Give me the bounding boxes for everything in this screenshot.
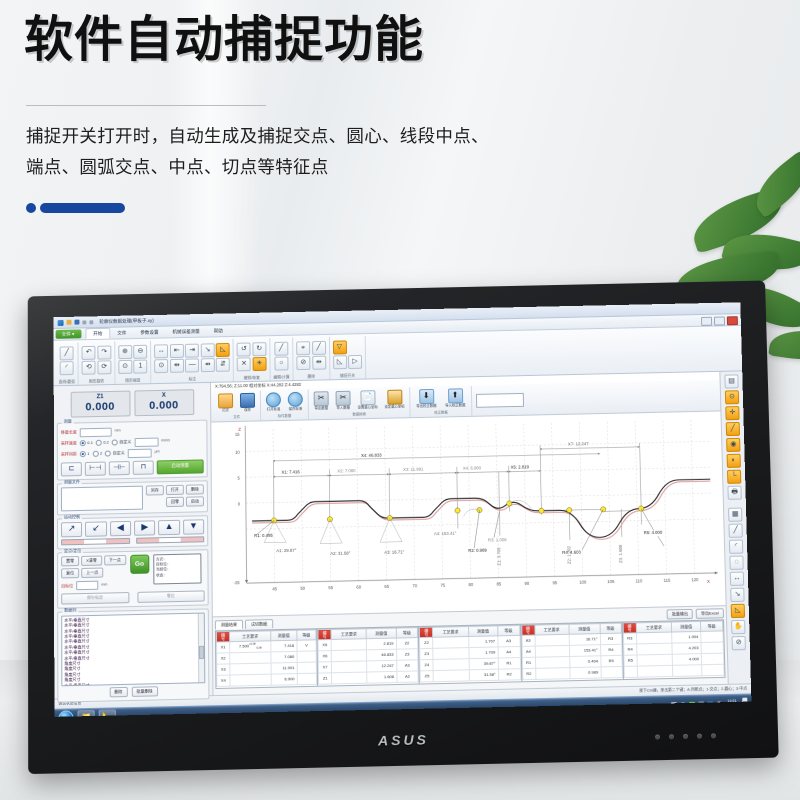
chart-ribbon-group-label: 文件	[233, 416, 240, 420]
ribbon-group-label: 编辑/计算	[273, 375, 289, 379]
target-pos-input[interactable]	[76, 581, 98, 591]
dim-right-icon[interactable]: ⇥	[185, 344, 199, 358]
monitor-brand-logo: ASUS	[378, 731, 429, 748]
snap-next-icon[interactable]: ▷	[348, 355, 362, 369]
folder-open-icon	[218, 394, 233, 409]
edit-circle-icon[interactable]: ○	[274, 356, 288, 370]
snap-perpendicular-icon[interactable]: └	[727, 470, 741, 484]
svg-text:95: 95	[552, 580, 557, 585]
rotate-ccw-icon[interactable]: ↶	[82, 346, 96, 360]
ribbon-group-label: 图形旋转	[89, 379, 104, 383]
svg-text:80: 80	[468, 582, 473, 587]
results-table: 编号 工艺要求 测量值 等级 A316.71°R3 A4153.41°R4 R1…	[521, 623, 623, 681]
zoom-out-icon[interactable]: ⊖	[133, 345, 147, 359]
data-list-panel: 数据列 水平/垂直尺寸 水平/垂直尺寸 水平/垂直尺寸 水平/垂直尺寸 水平/垂…	[57, 608, 209, 703]
svg-text:90: 90	[524, 581, 529, 586]
minimize-button[interactable]	[701, 317, 712, 326]
chart-ribbon-group-correction: ⬇ 导出校正数据 ⬆ 导入校正数据 校正数据	[410, 386, 472, 417]
target-pos-label: 目标位	[61, 584, 73, 589]
chart-ribbon-group-label: 标件数据	[278, 415, 292, 419]
accent-bar	[40, 203, 125, 213]
page-title: 软件自动捕捉功能	[24, 14, 424, 67]
annotation-z3: Z3: 1.608	[618, 544, 623, 563]
promo-banner: 软件自动捕捉功能 捕捉开关打开时，自动生成及捕捉交点、圆心、线段中点、 端点、圆…	[0, 0, 800, 800]
redo-icon[interactable]: ↻	[252, 342, 266, 356]
table-row: Z11.608A2	[319, 671, 419, 684]
annotation-x7: X7: 12.247	[568, 441, 589, 446]
col-id: 编号	[623, 623, 636, 633]
ribbon-group-label: 捕捉开关	[340, 374, 355, 378]
results-grid[interactable]: 编号 工艺要求 测量值 等级 X17.500+0.08-0.087.416V X…	[215, 620, 726, 690]
apply-centroid-button[interactable]: 设定重心坐标	[382, 390, 406, 410]
col-grade: 等级	[396, 628, 418, 639]
tab-trial-cut-data[interactable]: 试切数据	[245, 619, 273, 629]
tab-measure-results[interactable]: 测量结果	[215, 620, 243, 630]
snap-angle-icon[interactable]: ◺	[333, 355, 347, 369]
delete-row-button[interactable]: 删除	[109, 687, 127, 698]
goto-status-display: 方式： 目标位： 当前位： 状态：	[153, 553, 201, 584]
dro-axis-value: 0.000	[71, 400, 129, 413]
status-right-hint: 按下Ctrl键，单击第二个键；A-判断点；1-交点；2-圆心；3-中点	[639, 687, 747, 694]
ribbon-group-label: 标注	[189, 377, 197, 381]
disk-quick-icon[interactable]	[74, 320, 79, 325]
print-icon[interactable]: 🖶	[727, 486, 741, 500]
chart-ribbon-group-label: 校正数据	[434, 411, 448, 415]
dim-length-icon[interactable]: —	[185, 358, 199, 372]
col-value: 测量值	[271, 631, 297, 642]
ribbon-group-line-arc: ╱ ◜ 直线/圆弧	[56, 342, 79, 385]
nav-down-left-icon[interactable]: ↙	[85, 521, 106, 536]
left-control-panel: Z1 0.000 X 0.000 测量 移量长度	[54, 383, 214, 699]
ribbon-group-label: 直线/圆弧	[59, 380, 75, 384]
list-scrollbar-thumb[interactable]	[199, 646, 204, 659]
goto-panel: 定点/定位 置零 X清零 下一点 复位	[57, 549, 209, 609]
svg-text:105: 105	[607, 579, 615, 584]
dim-left-icon[interactable]: ⇤	[170, 344, 184, 358]
travel-length-unit: mm	[115, 430, 121, 434]
snap-center-icon[interactable]: ✛	[725, 406, 739, 420]
measure-panel-title: 测量	[62, 419, 74, 424]
draw-arc-icon[interactable]: ◜	[729, 540, 743, 554]
file-delete-button[interactable]: 删除	[186, 484, 204, 495]
globe-open-icon	[266, 393, 281, 408]
col-grade: 等级	[297, 630, 317, 641]
file-panel: 测量文件 另存 打开 删除	[57, 480, 208, 515]
snap-endpoint-icon[interactable]: ◉	[726, 438, 740, 452]
chart-ribbon-group-transform: ✂ 导出数据 ✂ 导入数据 📄 设置重心坐标	[309, 387, 411, 419]
speed-slider-z[interactable]	[136, 536, 205, 544]
annotation-a4: A4: 153.41°	[434, 530, 457, 536]
svg-text:-25: -25	[234, 580, 241, 585]
sample-speed-label: 采样速度	[61, 441, 77, 446]
app-body: Z1 0.000 X 0.000 测量 移量长度	[54, 371, 751, 698]
svg-text:X: X	[707, 579, 710, 584]
annotation-a3: A3: 16.71°	[384, 549, 404, 554]
svg-text:65: 65	[384, 584, 389, 589]
start-measure-button[interactable]: 启动测量	[157, 459, 204, 474]
ribbon-group-edit: ╱ ○ 编辑/计算	[270, 338, 294, 381]
sample-pitch-input[interactable]	[128, 448, 152, 457]
export-correction-button[interactable]: ⬇ 导出校正数据	[413, 389, 439, 409]
menu-tab-file[interactable]: 文件	[110, 328, 133, 337]
grid-block: 编号 工艺要求 测量值 等级 X17.500+0.08-0.087.416V X…	[216, 630, 318, 689]
download-arrow-icon: ⬇	[419, 389, 434, 404]
grid-block: 编号 工艺要求 测量值 等级 A316.71°R3 A4153.41°R4 R1…	[521, 623, 624, 682]
nav-up-right-icon[interactable]: ↗	[61, 522, 82, 537]
file-menu-button[interactable]: 文件 ▾	[56, 329, 82, 338]
dim-horizontal-icon[interactable]: ↔	[154, 344, 168, 358]
import-data-button[interactable]: ✂ 导入数据	[334, 391, 353, 411]
next-point-button[interactable]: 下一点	[104, 555, 126, 566]
sample-pitch-option-custom[interactable]: 自定义	[105, 450, 124, 456]
brush-icon	[387, 390, 402, 405]
svg-text:100: 100	[579, 579, 587, 584]
menu-tab-help[interactable]: 帮助	[207, 326, 230, 335]
nav-right-icon[interactable]: ▶	[134, 520, 155, 535]
file-open-button[interactable]: 打开	[166, 484, 184, 495]
probe-mode-right-icon[interactable]: ⊓	[133, 460, 154, 474]
undo-icon[interactable]: ↺	[237, 342, 251, 356]
table-row: R20.989	[522, 667, 622, 680]
file-start-button[interactable]: 启动	[186, 496, 204, 507]
svg-text:115: 115	[663, 577, 671, 582]
set-centroid-button[interactable]: 📄 设置重心坐标	[355, 390, 379, 410]
ribbon-group-label: 删除	[307, 375, 315, 379]
snap-tangent-icon[interactable]: ◐	[727, 454, 741, 468]
delete-point-icon[interactable]: ⌖	[296, 341, 310, 355]
file-saveas-button[interactable]: 另存	[146, 485, 164, 496]
chart-pane: X:794.56; Z:11.00 相对坐标 X:44.282 Z:4.4282…	[211, 372, 728, 695]
divider	[26, 105, 266, 106]
ribbon-group-dimension: ↔ ⇤ ⇥ ↘ ◺ ⊙ ⇹ — ⇴ ⇵	[151, 339, 234, 383]
svg-text:45: 45	[272, 586, 277, 591]
dim-radius-icon[interactable]: ⊙	[154, 359, 168, 373]
zoom-actual-icon[interactable]: 1	[133, 359, 147, 373]
windows-start-orb-icon[interactable]	[58, 710, 73, 717]
chart-save-button[interactable]: 保存	[238, 393, 257, 413]
col-grade: 等级	[497, 626, 519, 637]
annotation-x4: X4: 6.900	[463, 465, 482, 470]
probe-mode-left-icon[interactable]: ⊏	[61, 462, 82, 476]
ribbon-group-delete: ⌖╱ ⊘⇹ 删除	[293, 337, 330, 380]
snap-toggle-icon[interactable]: ▽	[332, 340, 346, 354]
results-table: 编号 工艺要求 测量值 等级 R31.004 R44.203 R54.000	[622, 621, 724, 679]
snap-intersection-icon[interactable]: ⊙	[725, 390, 739, 404]
col-id: 编号	[216, 632, 229, 642]
table-row: X46.900	[217, 674, 317, 687]
svg-text:5: 5	[237, 475, 240, 480]
export-excel-button[interactable]: 导出Excel	[696, 608, 724, 619]
sample-pitch-unit: μm	[155, 451, 160, 455]
svg-text:10: 10	[235, 449, 240, 454]
nav-down-icon[interactable]: ▼	[183, 519, 204, 534]
svg-text:60: 60	[356, 584, 361, 589]
application-window: 轮廓仪数据处理(甲板子.xy) 文件 ▾ 开始 文件 参数设置 机械误差测量 帮…	[54, 302, 752, 717]
svg-text:15: 15	[235, 431, 240, 436]
svg-text:70: 70	[412, 583, 417, 588]
results-table: 编号 工艺要求 测量值 等级 Z21.707A3 Z31.709A4 Z439.…	[419, 625, 521, 683]
dro-axis-value: 0.000	[135, 399, 193, 412]
menu-tab-start[interactable]: 开始	[85, 328, 110, 339]
sample-speed-unit: mm/s	[161, 439, 170, 443]
line-tool-icon[interactable]: ╱	[60, 346, 74, 360]
file-home-button[interactable]: 回零	[166, 497, 184, 508]
accent-pill	[26, 203, 125, 213]
col-grade: 等级	[600, 623, 622, 634]
col-value: 测量值	[569, 624, 600, 635]
app-icon	[58, 319, 64, 325]
annotation-x2: X2: 7.080	[337, 468, 356, 473]
annotation-a2: A2: 31.58°	[330, 550, 350, 555]
grid-block: 编号 工艺要求 测量值 等级 R31.004 R44.203 R54.000	[622, 621, 724, 680]
svg-text:110: 110	[635, 578, 642, 583]
draw-line-icon[interactable]: ╱	[728, 524, 742, 538]
annotation-z2: Z2: 1.202	[566, 545, 571, 564]
batch-delete-button[interactable]: 批量删除	[131, 686, 157, 697]
monitor: ASUS 轮廓仪数据处理(甲板子.xy) 文件 ▾ 开始	[28, 286, 772, 764]
results-table: 编号 工艺要求 测量值 等级 X52.819Z2 X646.833Z3 X712…	[318, 627, 419, 685]
import-scissors-icon: ✂	[336, 391, 351, 406]
annotation-x5: X5: 2.819	[511, 464, 530, 469]
svg-text:0: 0	[238, 501, 241, 506]
draw-angle-icon[interactable]: ◺	[731, 604, 745, 618]
annotation-z1: Z1: 3.709	[496, 546, 501, 565]
ribbon-group-rotate: ↶↷ ⟲⟳ 图形旋转	[79, 341, 115, 384]
maximize-button[interactable]	[714, 316, 725, 325]
flip-h-icon[interactable]: ⟲	[82, 361, 96, 375]
svg-text:50: 50	[300, 585, 305, 590]
results-table: 编号 工艺要求 测量值 等级 X17.500+0.08-0.087.416V X…	[216, 630, 317, 688]
svg-text:55: 55	[328, 585, 333, 590]
menu-tab-error-measure[interactable]: 机械误差测量	[165, 327, 206, 337]
snap-midpoint-icon[interactable]: ╱	[726, 422, 740, 436]
upload-arrow-icon: ⬆	[448, 389, 463, 404]
dim-angle-icon[interactable]: ◺	[216, 343, 230, 357]
document-edit-icon: 📄	[360, 391, 375, 406]
motion-panel: 运动控制 ↗ ↙ ◀ ▶ ▲ ▼	[57, 515, 208, 549]
page-subtitle: 捕捉开关打开时，自动生成及捕捉交点、圆心、线段中点、 端点、圆弧交点、中点、切点…	[26, 121, 586, 182]
dro-axis-z1: Z1 0.000	[70, 391, 130, 418]
export-scissors-icon: ✂	[314, 392, 329, 407]
dim-offset-icon[interactable]: ⇴	[201, 358, 215, 372]
speed-slider-x[interactable]	[61, 538, 130, 546]
svg-text:75: 75	[440, 582, 445, 587]
menu-tab-settings[interactable]: 参数设置	[133, 328, 165, 338]
undo-quick-icon[interactable]	[82, 320, 86, 324]
draw-polyline-icon[interactable]: ↘	[730, 588, 744, 602]
cancel-icon[interactable]: ⊘	[732, 636, 746, 650]
col-value: 测量值	[468, 626, 497, 637]
highlight-icon[interactable]: ☀	[252, 357, 266, 371]
dim-vertical-icon[interactable]: ⇵	[216, 358, 230, 372]
sample-speed-option-1[interactable]: 0.1	[80, 440, 93, 446]
ribbon-group-label: 撤销/恢复	[244, 376, 260, 380]
results-table-zone: 测量结果 试切数据 批量输出 导出Excel	[213, 605, 728, 695]
profile-chart[interactable]: ZX 15105 0-25 455055 606570 758085 90951…	[211, 411, 725, 616]
zoom-fit-icon[interactable]: ⊙	[118, 360, 132, 374]
zero-button[interactable]: 置零	[61, 556, 79, 567]
data-list-title: 数据列	[62, 608, 78, 613]
table-actions: 批量输出 导出Excel	[667, 608, 724, 620]
svg-text:85: 85	[496, 581, 501, 586]
prev-point-button[interactable]: 上一点	[81, 568, 103, 579]
reset-button[interactable]: 复位	[61, 568, 79, 579]
nav-left-icon[interactable]: ◀	[110, 521, 131, 536]
travel-length-input[interactable]	[80, 427, 112, 437]
ribbon-group-undo: ↺↻ ✕☀ 撤销/恢复	[234, 338, 271, 381]
annotation-r2: R2: 0.989	[468, 547, 487, 552]
sample-pitch-option-2[interactable]: 2	[93, 451, 103, 457]
chart-ribbon-group-label: 数据转换	[352, 413, 366, 417]
motion-panel-title: 运动控制	[62, 515, 82, 520]
grid-block: 编号 工艺要求 测量值 等级 Z21.707A3 Z31.709A4 Z439.…	[419, 625, 522, 684]
clear-icon[interactable]: ✕	[237, 357, 251, 371]
ribbon-group-zoom: ⊕⊖ ⊙1 图形缩放	[115, 341, 152, 384]
data-list-box[interactable]: 水平/垂直尺寸 水平/垂直尺寸 水平/垂直尺寸 水平/垂直尺寸 水平/垂直尺寸 …	[61, 612, 205, 686]
draw-dimension-icon[interactable]: ↔	[730, 572, 744, 586]
globe-save-icon	[288, 392, 303, 407]
delete-line-icon[interactable]: ╱	[312, 341, 326, 355]
save-quick-icon[interactable]	[67, 320, 72, 325]
sample-pitch-label: 采样间距	[61, 452, 77, 457]
sample-speed-option-custom[interactable]: 自定义	[112, 439, 131, 445]
file-list-box[interactable]	[61, 485, 143, 511]
arc-tool-icon[interactable]: ◜	[60, 361, 74, 375]
ribbon-group-snap: ▽ ◺▷ 捕捉开关	[329, 336, 366, 379]
draw-circle-icon[interactable]: ◌	[729, 556, 743, 570]
table-row: Z531.58°R2	[420, 669, 520, 682]
subtitle-line-2: 端点、圆弧交点、中点、切点等特征点	[26, 152, 586, 183]
goto-status-state: 状态：	[156, 572, 198, 578]
zoom-in-icon[interactable]: ⊕	[118, 345, 132, 359]
probe-mode-out-icon[interactable]: ⊢⊣	[85, 461, 106, 475]
nav-up-icon[interactable]: ▲	[158, 519, 179, 534]
annotation-x4b: X4: 46.833	[361, 452, 382, 457]
window-title: 轮廓仪数据处理(甲板子.xy)	[99, 318, 154, 324]
sample-speed-input[interactable]	[134, 437, 158, 446]
goto-panel-title: 定点/定位	[62, 549, 83, 554]
col-value: 测量值	[672, 622, 701, 633]
chart-open-button[interactable]: 打开	[216, 394, 235, 414]
flip-v-icon[interactable]: ⟳	[97, 360, 111, 374]
floppy-save-icon	[240, 393, 255, 408]
pan-icon[interactable]: ✋	[731, 620, 745, 634]
chart-note-field[interactable]	[476, 393, 524, 408]
table-row	[624, 665, 724, 678]
col-value: 测量值	[367, 628, 396, 639]
chart-ribbon-group-file: 打开 保存 文件	[213, 390, 261, 421]
taskbar-explorer-icon[interactable]: 📁	[78, 710, 95, 717]
svg-text:120: 120	[691, 577, 699, 582]
digital-readout: Z1 0.000 X 0.000	[57, 386, 208, 420]
save-standard-button[interactable]: 保存标准	[286, 392, 305, 412]
delete-dim-icon[interactable]: ⇹	[312, 356, 326, 370]
annotation-r1: R1: 0.495	[254, 532, 273, 537]
dim-span-icon[interactable]: ⇹	[170, 359, 184, 373]
annotation-r5: R5: 4.000	[644, 530, 663, 535]
rotate-cw-icon[interactable]: ↷	[97, 345, 111, 359]
sample-speed-option-2[interactable]: 0.2	[96, 440, 109, 446]
probe-calibrate-button[interactable]: 探针标定	[61, 593, 129, 605]
col-id: 编号	[420, 628, 433, 638]
dim-diagonal-icon[interactable]: ↘	[201, 343, 215, 357]
annotation-r3: R3: 1.006	[488, 537, 507, 542]
chart-ribbon-group-standard: 打开标准 保存标准 标件数据	[261, 389, 309, 420]
x-clear-button[interactable]: X清零	[81, 555, 102, 566]
snap-panel-icon[interactable]: ▤	[724, 374, 738, 388]
measure-panel: 测量 移量长度 mm 采样速度 0.1 0.2 自定义	[57, 419, 208, 480]
edit-line-icon[interactable]: ╱	[274, 342, 288, 356]
annotation-x3: X3: 11.991	[403, 466, 424, 471]
profile-chart-svg: ZX 15105 0-25 455055 606570 758085 90951…	[211, 411, 725, 608]
annotation-r4: R4: 4.603	[562, 549, 581, 554]
window-controls[interactable]	[701, 316, 738, 326]
dro-axis-x: X 0.000	[134, 389, 194, 416]
tools-panel-icon[interactable]: ▦	[728, 508, 742, 522]
target-pos-unit: mm	[101, 583, 107, 587]
close-button[interactable]	[727, 316, 738, 325]
file-panel-title: 测量文件	[62, 480, 82, 485]
travel-length-label: 移量长度	[61, 430, 77, 435]
col-grade: 等级	[700, 621, 722, 632]
annotation-a1: A1: 29.87°	[276, 548, 296, 553]
go-button[interactable]: Go	[130, 554, 149, 573]
home-position-button[interactable]: 零位	[137, 591, 205, 603]
annotation-x1: X1: 7.416	[281, 469, 300, 474]
grid-block: 编号 工艺要求 测量值 等级 X52.819Z2 X646.833Z3 X712…	[318, 627, 421, 686]
redo-quick-icon[interactable]	[89, 320, 93, 324]
col-id: 编号	[318, 630, 331, 640]
accent-dot	[26, 203, 36, 213]
ribbon-group-label: 图形缩放	[125, 378, 140, 382]
probe-mode-in-icon[interactable]: ⊣⊢	[109, 461, 130, 475]
batch-output-button[interactable]: 批量输出	[667, 609, 693, 620]
subtitle-line-1: 捕捉开关打开时，自动生成及捕捉交点、圆心、线段中点、	[26, 121, 586, 152]
sample-pitch-option-1[interactable]: 1	[80, 451, 90, 457]
import-correction-button[interactable]: ⬆ 导入校正数据	[442, 389, 468, 409]
open-standard-button[interactable]: 打开标准	[264, 393, 283, 413]
export-data-button[interactable]: ✂ 导出数据	[312, 392, 331, 412]
col-id: 编号	[521, 625, 534, 635]
monitor-screen: 轮廓仪数据处理(甲板子.xy) 文件 ▾ 开始 文件 参数设置 机械误差测量 帮…	[54, 302, 752, 717]
delete-all-icon[interactable]: ⊘	[296, 356, 310, 370]
